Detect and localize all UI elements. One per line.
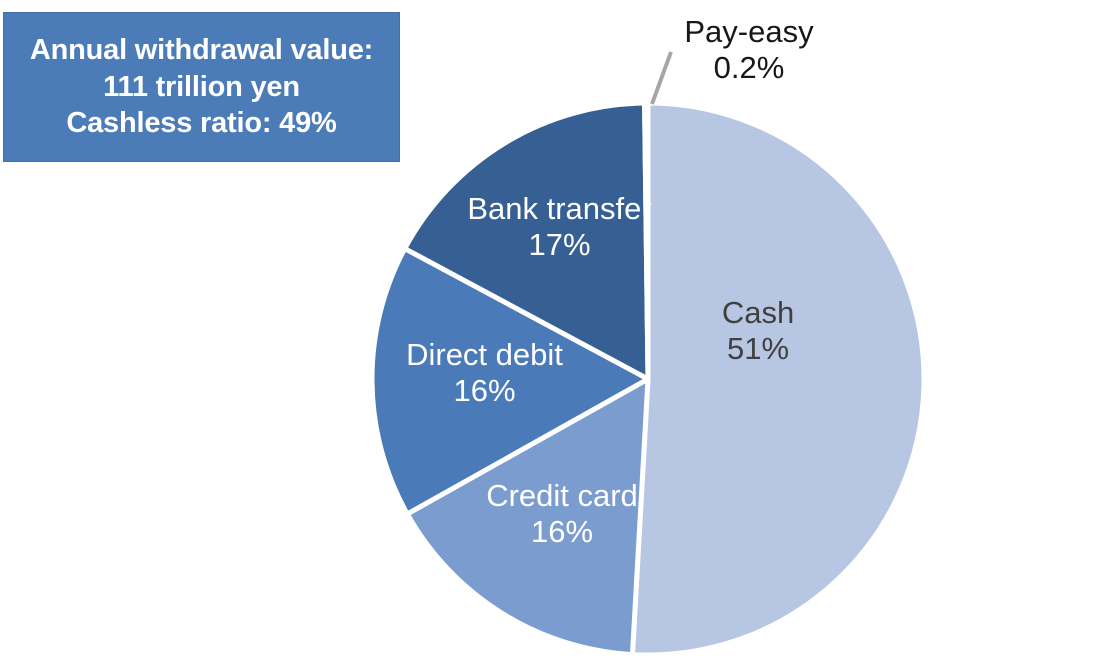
slice-label-pay-easy: Pay-easy 0.2%	[664, 14, 834, 87]
slice-label-credit-card-name: Credit card	[457, 478, 667, 514]
slice-label-credit-card-value: 16%	[457, 514, 667, 550]
pie-chart-figure: Annual withdrawal value: 111 trillion ye…	[0, 0, 1120, 668]
slice-label-pay-easy-name: Pay-easy	[664, 14, 834, 50]
slice-label-direct-debit-value: 16%	[377, 373, 592, 409]
slice-label-cash-name: Cash	[668, 295, 848, 331]
slice-label-cash: Cash 51%	[668, 295, 848, 368]
slice-label-credit-card: Credit card 16%	[457, 478, 667, 551]
slice-label-bank-transfer-name: Bank transfer	[452, 191, 667, 227]
slice-label-cash-value: 51%	[668, 331, 848, 367]
slice-label-bank-transfer: Bank transfer 17%	[452, 191, 667, 264]
slice-label-direct-debit: Direct debit 16%	[377, 337, 592, 410]
pie-graphic	[0, 0, 1120, 668]
slice-label-bank-transfer-value: 17%	[452, 227, 667, 263]
slice-label-pay-easy-value: 0.2%	[664, 50, 834, 86]
slice-label-direct-debit-name: Direct debit	[377, 337, 592, 373]
pie-slice-cash	[632, 103, 924, 655]
